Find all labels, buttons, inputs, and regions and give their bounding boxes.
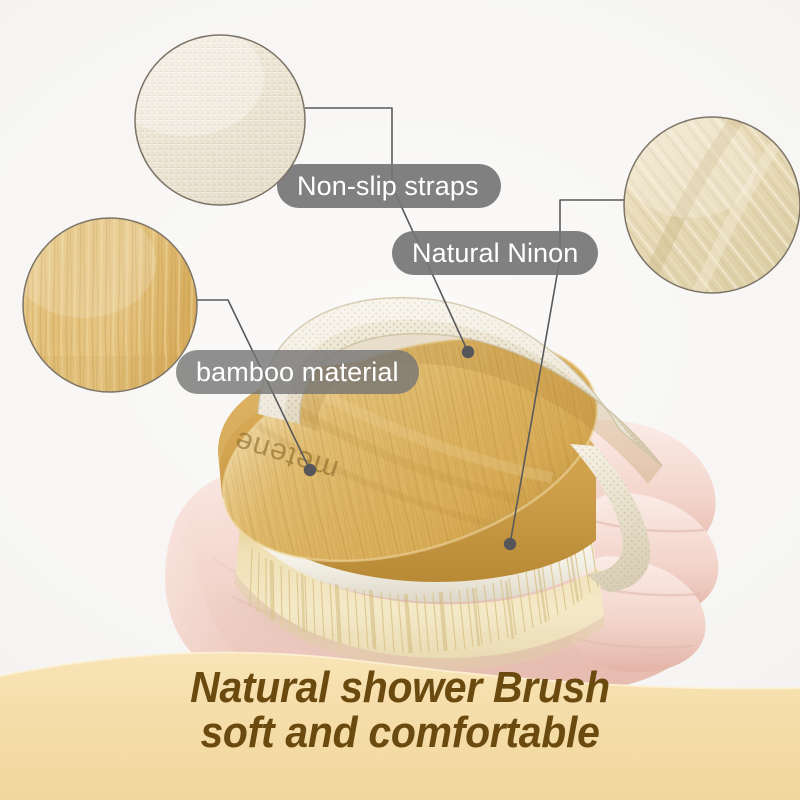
headline-line-2: soft and comfortable — [28, 711, 772, 756]
infographic-canvas: metene — [0, 0, 800, 800]
banner-headline: Natural shower Brush soft and comfortabl… — [28, 666, 772, 756]
headline-line-1: Natural shower Brush — [28, 666, 772, 711]
